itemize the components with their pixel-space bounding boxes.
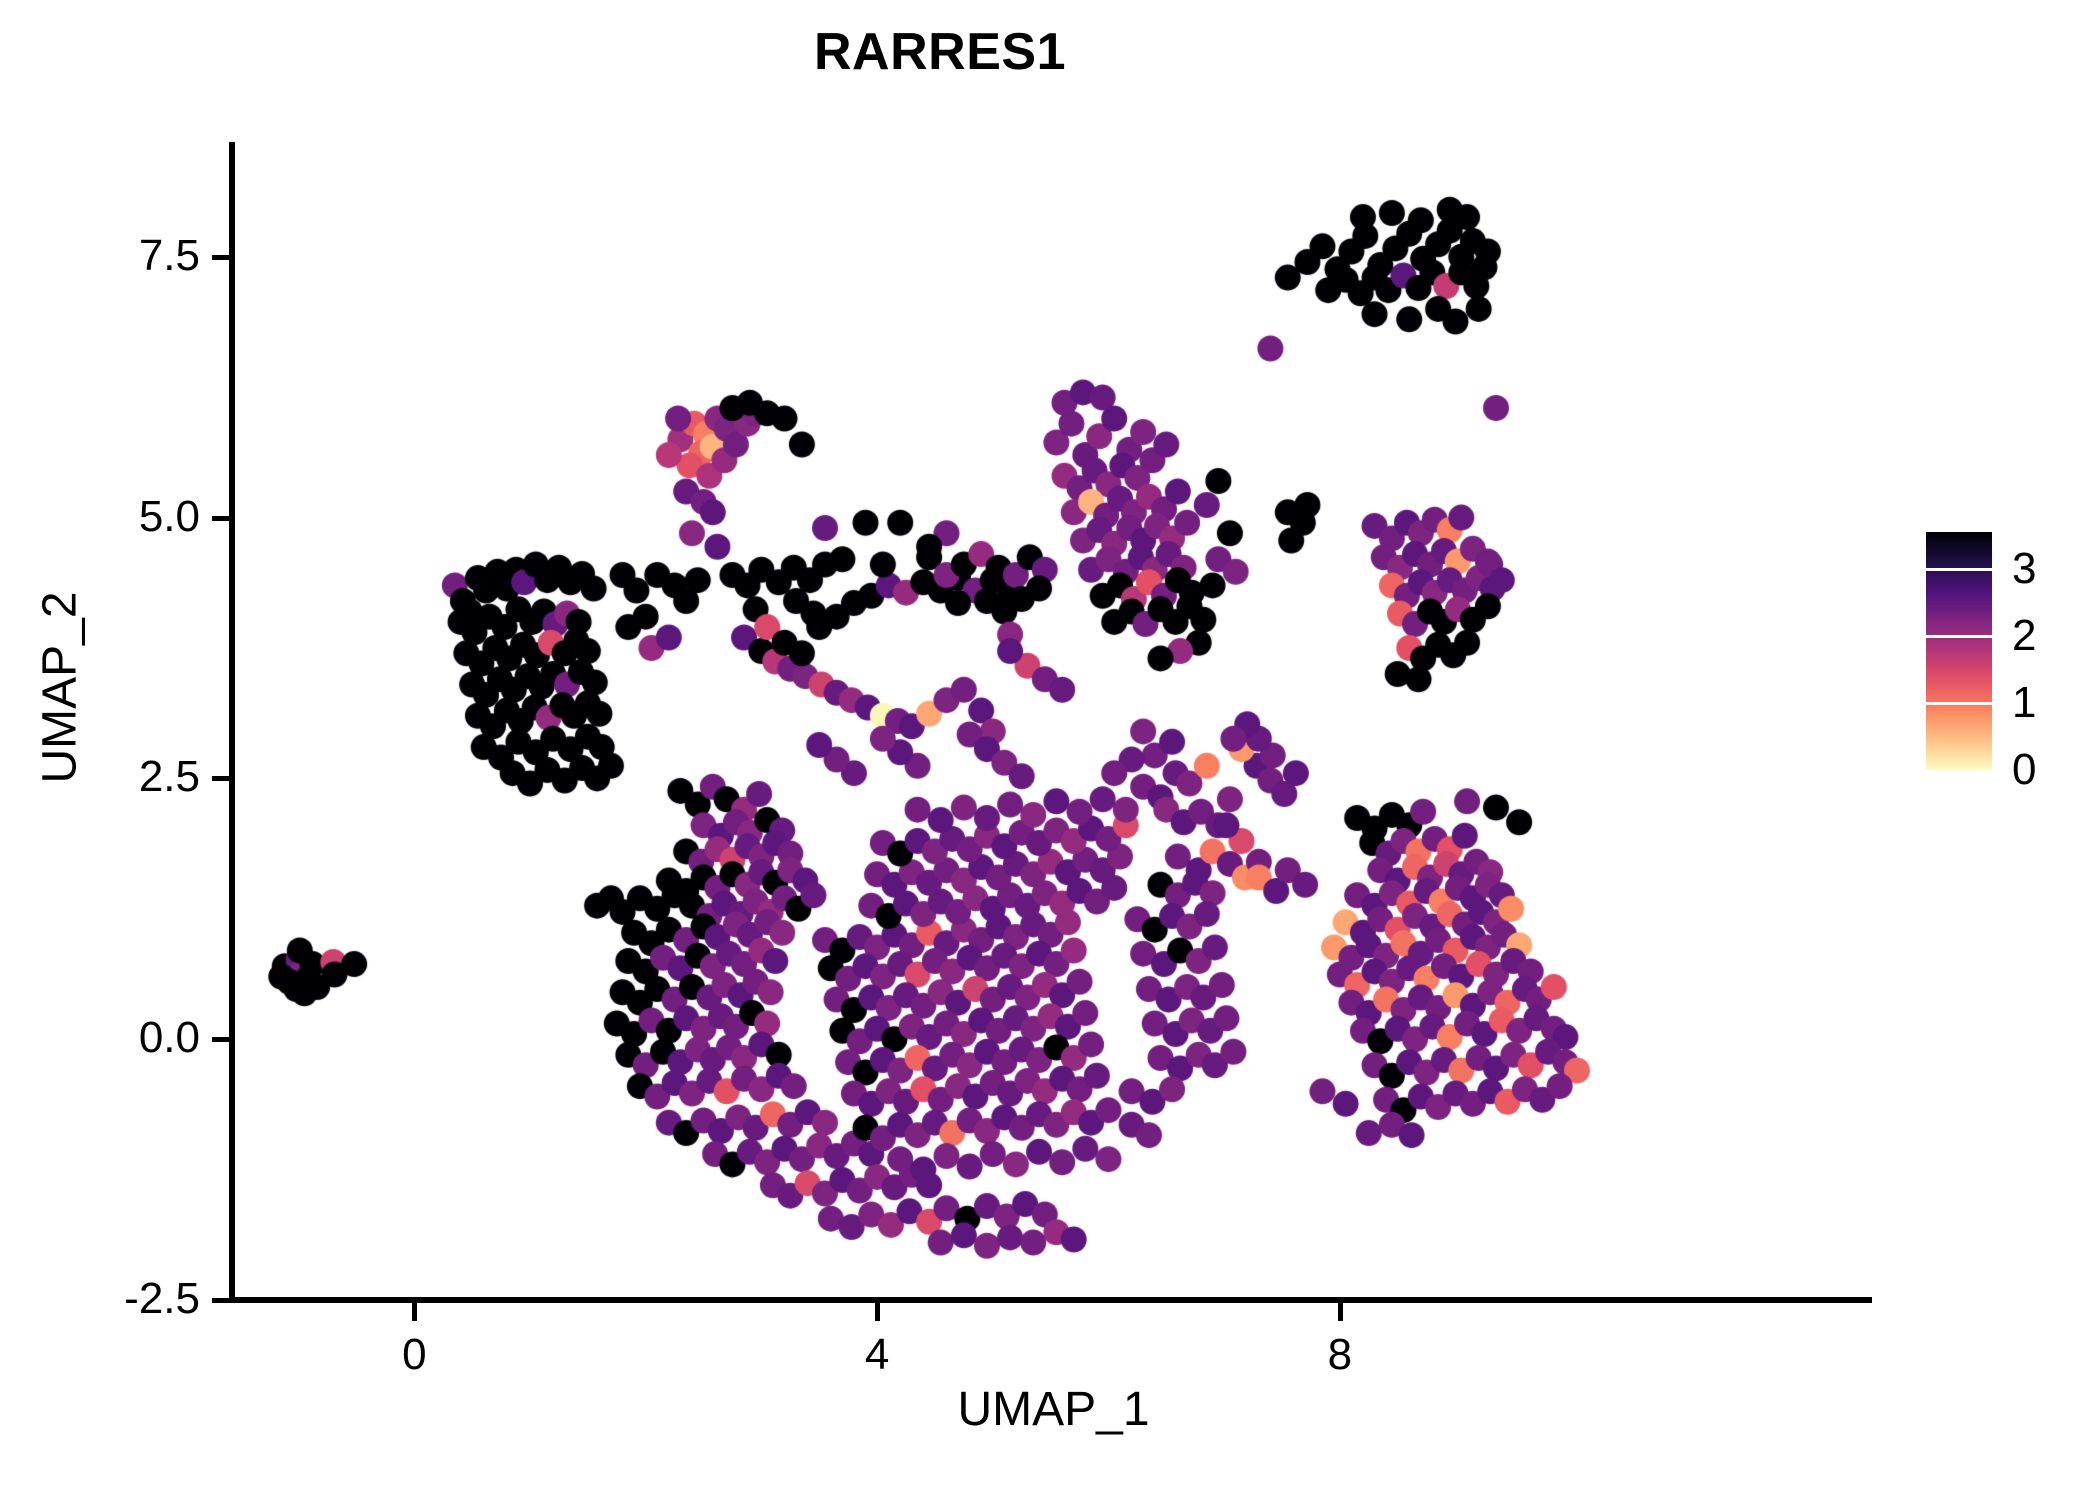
colorbar-tick-label: 3 xyxy=(2012,547,2036,591)
y-tick-mark xyxy=(212,776,230,781)
plot-panel xyxy=(235,142,1872,1300)
page-title: RARRES1 xyxy=(0,22,1880,82)
y-tick-label: -2.5 xyxy=(124,1274,200,1324)
x-tick-mark xyxy=(1338,1303,1343,1321)
y-axis-title: UMAP_2 xyxy=(33,408,88,968)
y-tick-mark xyxy=(212,1037,230,1042)
y-axis-line xyxy=(229,142,235,1303)
x-tick-label: 0 xyxy=(354,1330,474,1380)
x-tick-label: 4 xyxy=(817,1330,937,1380)
y-tick-mark xyxy=(212,255,230,260)
scatter-plot-canvas xyxy=(235,142,1872,1300)
x-tick-label: 8 xyxy=(1280,1330,1400,1380)
colorbar-tick-mark xyxy=(1926,702,1992,705)
colorbar-tick-mark xyxy=(1926,635,1992,638)
x-axis-title: UMAP_1 xyxy=(235,1382,1872,1437)
x-axis-line xyxy=(232,1297,1872,1303)
y-tick-mark xyxy=(212,1298,230,1303)
colorbar-tick-mark xyxy=(1926,568,1992,571)
colorbar-tick-label: 0 xyxy=(2012,748,2036,792)
colorbar-tick-label: 2 xyxy=(2012,614,2036,658)
y-tick-label: 7.5 xyxy=(139,231,200,281)
y-tick-label: 2.5 xyxy=(139,752,200,802)
x-tick-mark xyxy=(875,1303,880,1321)
colorbar-legend: 0123 xyxy=(1926,532,2086,772)
x-tick-mark xyxy=(412,1303,417,1321)
y-tick-label: 5.0 xyxy=(139,492,200,542)
y-tick-label: 0.0 xyxy=(139,1013,200,1063)
y-tick-mark xyxy=(212,516,230,521)
umap-feature-plot: RARRES1 -2.50.02.55.07.5 048 UMAP_1 UMAP… xyxy=(0,0,2100,1500)
colorbar-tick-label: 1 xyxy=(2012,681,2036,725)
